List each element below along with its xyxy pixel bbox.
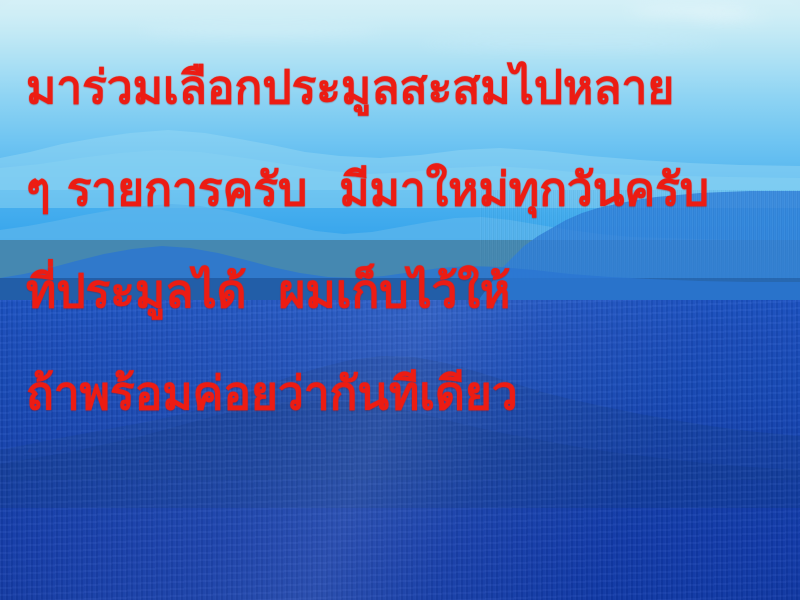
caption-line-1: มาร่วมเลือกประมูลสะสมไปหลาย: [26, 36, 800, 138]
caption-line-3: ที่ประมูลได้ ผมเก็บไว้ให้: [26, 240, 800, 342]
image-canvas: มาร่วมเลือกประมูลสะสมไปหลาย ๆ รายการครับ…: [0, 0, 800, 600]
caption-line-4: ถ้าพร้อมค่อยว่ากันทีเดียว: [26, 342, 800, 444]
caption-overlay: มาร่วมเลือกประมูลสะสมไปหลาย ๆ รายการครับ…: [0, 0, 800, 444]
caption-line-2: ๆ รายการครับ มีมาใหม่ทุกวันครับ: [26, 138, 800, 240]
